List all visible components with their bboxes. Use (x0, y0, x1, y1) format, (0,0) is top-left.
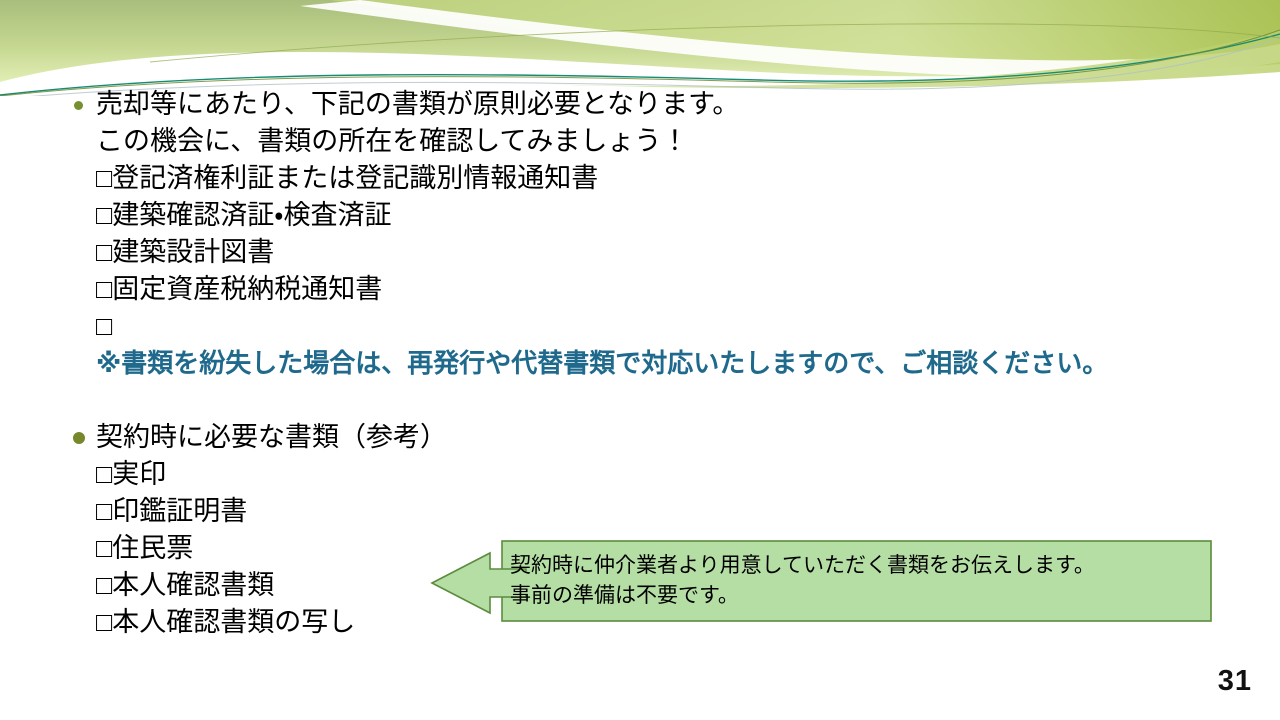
callout-box: 契約時に仲介業者より用意していただく書類をお伝えします。 事前の準備は不要です。 (430, 540, 1212, 622)
body-text: □ (96, 311, 112, 341)
wave-band-secondary (330, 0, 1280, 72)
list-item: 売却等にあたり、下記の書類が原則必要となります。 (0, 86, 1280, 123)
checkbox-list-item: □建築設計図書 (0, 234, 1280, 271)
checkbox-list-item: □固定資産税納税通知書 (0, 271, 1280, 308)
body-text: □建築設計図書 (96, 237, 274, 267)
header-wave-decoration (0, 0, 1280, 96)
body-text: □本人確認書類の写し (96, 607, 355, 637)
wave-white-sweep (300, 0, 1280, 77)
body-text: □本人確認書類 (96, 570, 274, 600)
body-text: 売却等にあたり、下記の書類が原則必要となります。 (96, 89, 739, 119)
checkbox-list-item: □印鑑証明書 (0, 493, 1280, 530)
list-item: 契約時に必要な書類（参考） (0, 419, 1280, 456)
body-text: □実印 (96, 459, 166, 489)
body-text: □建築確認済証・検査済証 (96, 200, 392, 230)
body-text: □固定資産税納税通知書 (96, 274, 382, 304)
callout-text-block: 契約時に仲介業者より用意していただく書類をお伝えします。 事前の準備は不要です。 (510, 551, 1200, 611)
slide-canvas: 売却等にあたり、下記の書類が原則必要となります。 この機会に、書類の所在を確認し… (0, 0, 1280, 720)
checkbox-list-item: □登記済権利証または登記識別情報通知書 (0, 160, 1280, 197)
bullet-dot-icon (74, 101, 83, 110)
checkbox-list-item: □実印 (0, 456, 1280, 493)
body-text: この機会に、書類の所在を確認してみましょう！ (96, 126, 688, 156)
wave-line-thin-upper (150, 24, 1280, 62)
bullet-dot-icon (73, 432, 85, 444)
body-text: □登記済権利証または登記識別情報通知書 (96, 163, 598, 193)
checkbox-list-item-empty: □ (0, 308, 1280, 345)
callout-line: 事前の準備は不要です。 (510, 581, 1200, 611)
wave-band-main (0, 0, 1280, 82)
wave-lower-wedge (430, 30, 1280, 88)
body-text: □住民票 (96, 533, 193, 563)
blank-line (0, 382, 1280, 419)
page-number: 31 (1218, 665, 1252, 698)
note-line: ※書類を紛失した場合は、再発行や代替書類で対応いたしますので、ご相談ください。 (0, 345, 1280, 382)
body-text: 契約時に必要な書類（参考） (96, 422, 447, 452)
note-text: ※書類を紛失した場合は、再発行や代替書類で対応いたしますので、ご相談ください。 (96, 348, 1108, 378)
list-item: この機会に、書類の所在を確認してみましょう！ (0, 123, 1280, 160)
body-text: □印鑑証明書 (96, 496, 247, 526)
callout-line: 契約時に仲介業者より用意していただく書類をお伝えします。 (510, 551, 1200, 581)
checkbox-list-item: □建築確認済証・検査済証 (0, 197, 1280, 234)
